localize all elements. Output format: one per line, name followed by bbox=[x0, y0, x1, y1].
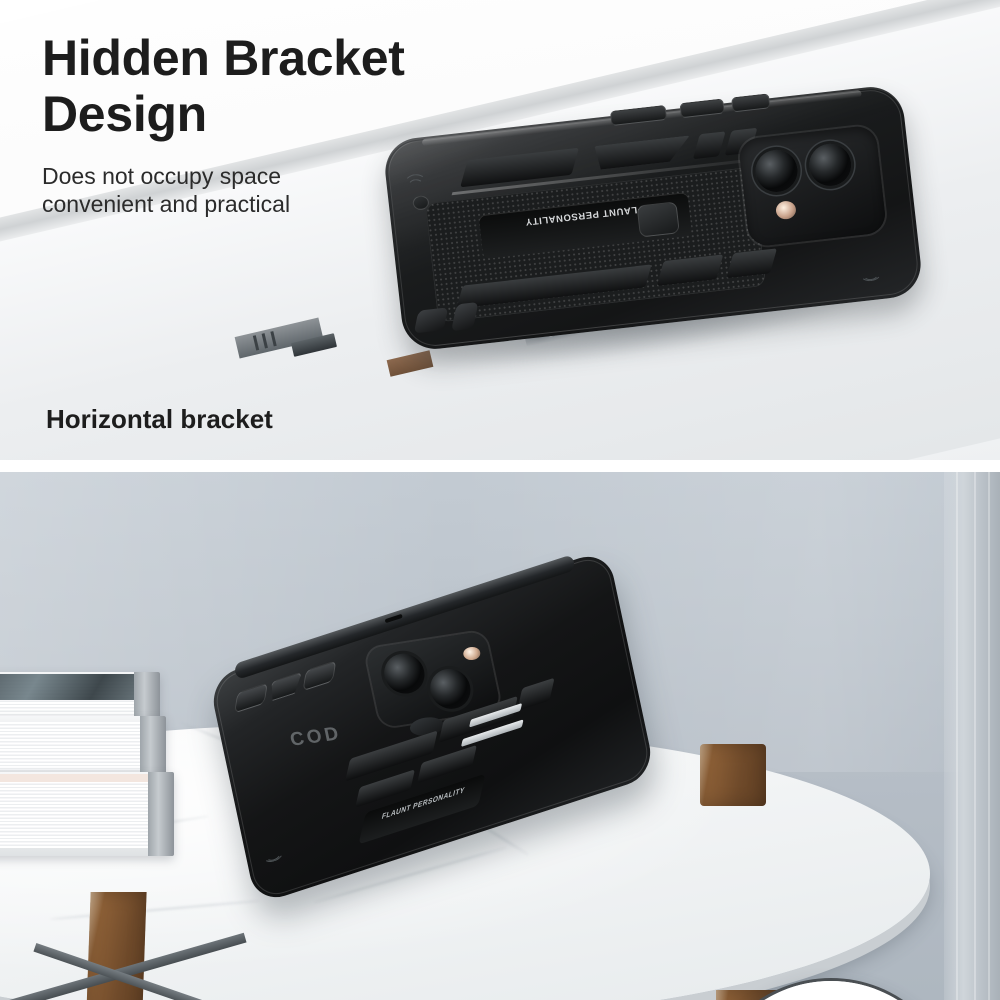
title-block: Hidden Bracket Design Does not occupy sp… bbox=[42, 30, 562, 218]
camera-lens-2 bbox=[807, 142, 853, 188]
panel-divider bbox=[0, 460, 1000, 472]
subtitle-line1: Does not occupy space bbox=[42, 162, 562, 190]
camera-flash-icon-v bbox=[462, 646, 481, 661]
top-panel-horizontal-bracket: FLAUNT PERSONALITY Hidden Bracket Design… bbox=[0, 0, 1000, 466]
detail-callout-circle: FLAUNT PERSONALITY 90° bbox=[702, 978, 960, 1000]
camera-lens-2-v bbox=[426, 666, 474, 711]
book-middle bbox=[0, 716, 166, 778]
book-bottom bbox=[0, 772, 174, 856]
bottom-panel-vertical-bracket: Vertical bracket COD FLAUNT PERSONALITY bbox=[0, 472, 1000, 1000]
page-title-line2: Design bbox=[42, 86, 562, 142]
subtitle-line2: convenient and practical bbox=[42, 190, 562, 218]
camera-flash-icon bbox=[775, 200, 797, 220]
camera-module bbox=[738, 125, 887, 248]
table-leg-right-top bbox=[700, 744, 766, 806]
curtain bbox=[944, 472, 1000, 1000]
kickstand-knob bbox=[637, 201, 680, 237]
horizontal-bracket-caption: Horizontal bracket bbox=[46, 404, 273, 435]
speaker-grille-2-icon bbox=[859, 262, 887, 283]
camera-lens-1-v bbox=[381, 651, 429, 696]
product-marketing-image: FLAUNT PERSONALITY Hidden Bracket Design… bbox=[0, 0, 1000, 1000]
camera-lens-1 bbox=[753, 148, 799, 194]
page-title-line1: Hidden Bracket bbox=[42, 30, 562, 86]
